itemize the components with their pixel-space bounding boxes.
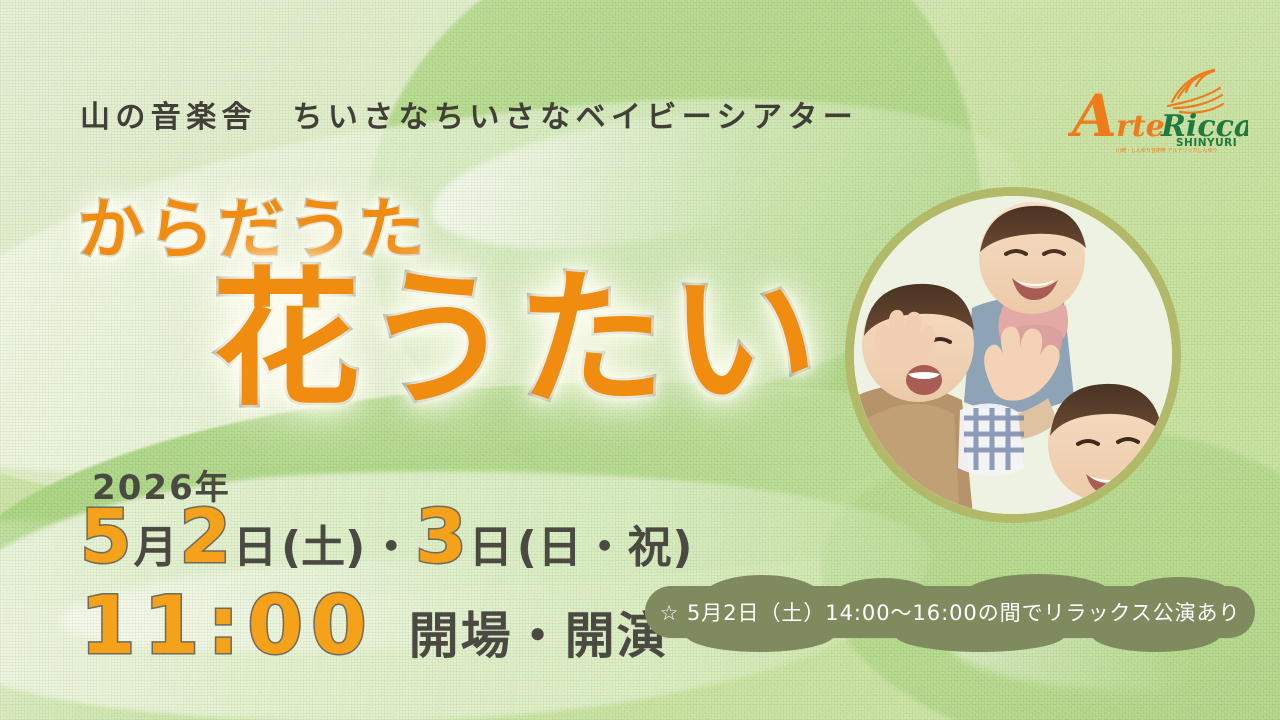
date-day2-weekday: (日・祝) [515, 526, 696, 570]
photo-image [854, 196, 1172, 514]
logo-tiny-text: 川崎・しんゆり芸術祭 アルテリッカしんゆり [1116, 147, 1218, 154]
date-day1-weekday: (土) [279, 526, 367, 570]
date-month-kanji: 月 [132, 526, 180, 570]
time-label: 開場・開演 [409, 611, 669, 661]
date-day2-kanji: 日 [467, 526, 515, 570]
checked-cushion [958, 403, 1024, 476]
date-day2-number: 3 [415, 500, 467, 574]
banner-note-text: ☆ 5月2日（土）14:00〜16:00の間でリラックス公演あり [645, 586, 1255, 638]
artericca-logo[interactable]: A rte Ricca SHINYURI 川崎・しんゆり芸術祭 アルテリッカしん… [1068, 62, 1248, 154]
logo-letter-a: A [1068, 82, 1117, 150]
time-value: 11:00 [80, 586, 375, 666]
poster-canvas: 山の音楽舎 ちいさなちいさなベイビーシアター A rte Ricca SHINY… [0, 0, 1280, 720]
event-date: 5 月 2 日 (土) ・ 3 日 (日・祝) [80, 500, 695, 574]
title-hanautai: 花うたい [212, 266, 822, 414]
wheat-sprig-icon [1168, 70, 1223, 113]
logo-word-rte: rte [1116, 109, 1165, 144]
relaxed-performance-banner: ☆ 5月2日（土）14:00〜16:00の間でリラックス公演あり [645, 586, 1255, 638]
baby-photo [845, 187, 1181, 523]
event-time: 11:00 開場・開演 [80, 586, 669, 666]
date-day1-kanji: 日 [231, 526, 279, 570]
date-day1-number: 2 [180, 500, 232, 574]
event-subtitle: 山の音楽舎 ちいさなちいさなベイビーシアター [80, 92, 858, 136]
date-separator: ・ [367, 526, 415, 570]
baby-left [854, 284, 974, 514]
date-month-number: 5 [80, 500, 132, 574]
